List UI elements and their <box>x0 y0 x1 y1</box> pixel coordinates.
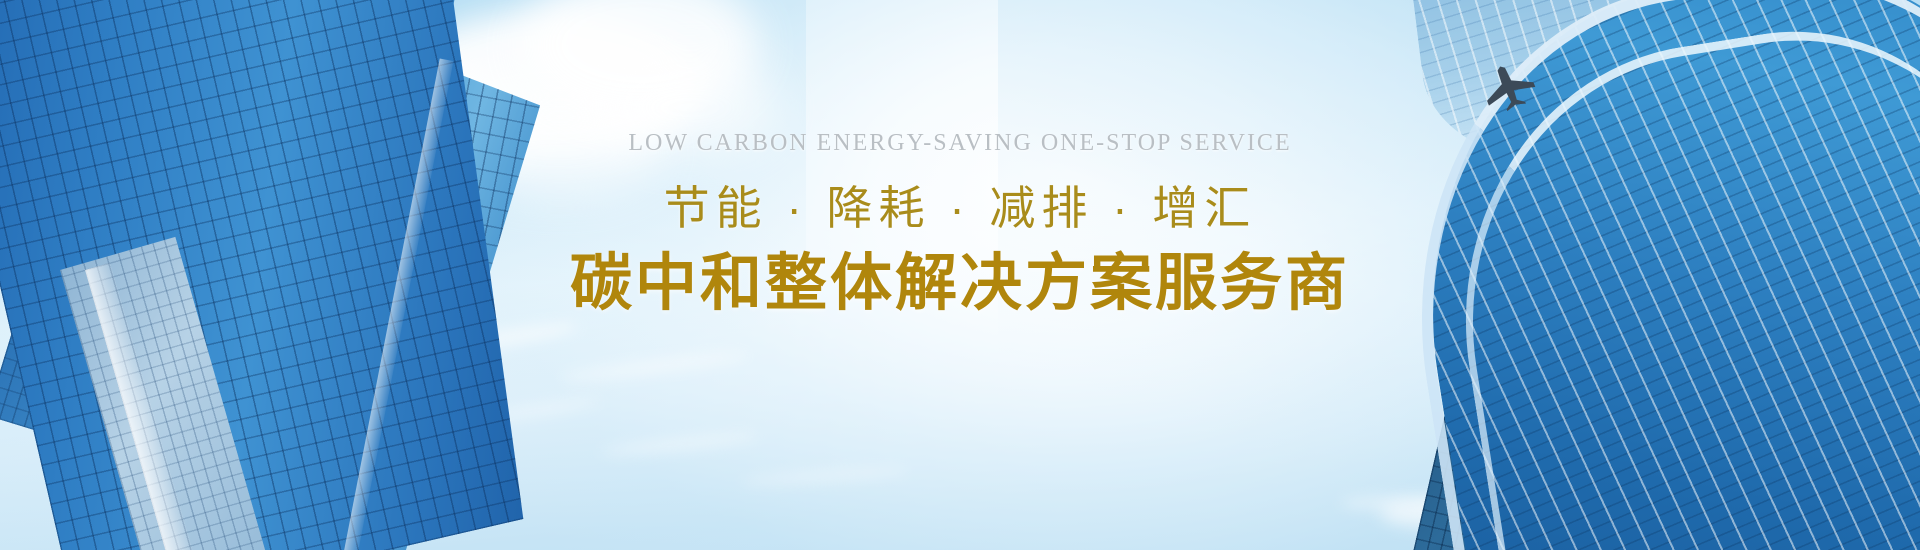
banner-text-block: LOW CARBON ENERGY-SAVING ONE-STOP SERVIC… <box>0 0 1920 550</box>
banner-subtitle: 节能 · 降耗 · 减排 · 增汇 <box>0 172 1920 238</box>
hero-banner: LOW CARBON ENERGY-SAVING ONE-STOP SERVIC… <box>0 0 1920 550</box>
banner-eyebrow: LOW CARBON ENERGY-SAVING ONE-STOP SERVIC… <box>0 130 1920 157</box>
banner-headline: 碳中和整体解决方案服务商 <box>0 232 1920 322</box>
